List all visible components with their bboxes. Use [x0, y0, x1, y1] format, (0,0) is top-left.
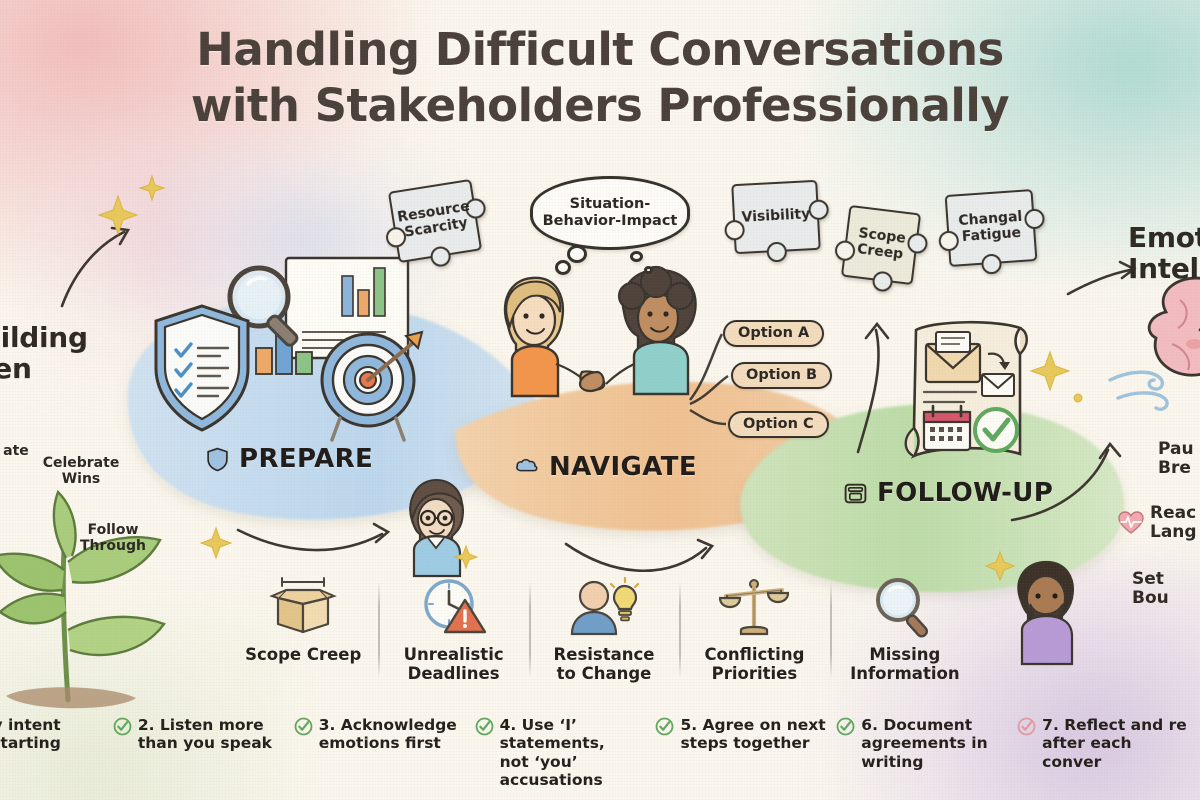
garden-title-line1: Building: [0, 321, 88, 354]
magnifier-icon: [872, 576, 938, 638]
challenge-label: Resistance to Change: [554, 645, 655, 683]
ei-item-line1: Reac: [1150, 503, 1196, 523]
option-label: Option B: [746, 367, 817, 383]
stage-label-followup: FOLLOW-UP: [843, 478, 1053, 508]
option-label: Option C: [743, 416, 814, 432]
challenge-label: Scope Creep: [245, 645, 361, 664]
ei-item-line1: Pau: [1158, 439, 1194, 459]
checklist-item-3: 3. Acknowledge emotions first: [294, 716, 475, 753]
garden-title: Building rden: [0, 322, 140, 385]
option-label: Option A: [738, 325, 809, 341]
ei-item-line1: Set Bou: [1132, 570, 1200, 609]
checklist-item-6: 6. Document agreements in writing: [836, 716, 1017, 771]
title-line-1: Handling Difficult Conversations: [0, 22, 1200, 78]
challenge-resistance-to-change: Resistance to Change: [529, 576, 679, 683]
speech-cloud-icon: [515, 455, 540, 480]
clock-warning-icon: [419, 576, 489, 638]
infographic-canvas: Handling Difficult Conversations with St…: [0, 0, 1200, 800]
challenge-unrealistic-deadlines: Unrealistic Deadlines: [378, 576, 528, 683]
checklist-text: 7. Reflect and re after each conver: [1042, 716, 1194, 771]
shield-icon: [205, 447, 230, 472]
title-line-2: with Stakeholders Professionally: [0, 78, 1200, 134]
ei-item-line2: Bre: [1158, 458, 1191, 478]
checklist-text: 5. Agree on next steps together: [680, 716, 825, 753]
thought-bubble-dot-small: [630, 251, 643, 262]
checklist-item-1: larify intent ore starting: [0, 716, 113, 753]
leaf-text: Celebrate Wins: [43, 455, 120, 487]
leaf-text: Follow Through: [80, 522, 146, 554]
option-pill-c: Option C: [728, 411, 829, 438]
archive-box-icon: [843, 481, 868, 506]
puzzle-piece-scope-creep: Scope Creep: [841, 205, 921, 285]
page-title: Handling Difficult Conversations with St…: [0, 22, 1200, 135]
checklist-text: larify intent ore starting: [0, 716, 61, 753]
challenges-strip: Scope Creep Unrealistic: [228, 576, 980, 694]
open-box-icon: [264, 576, 342, 638]
checklist-text: 3. Acknowledge emotions first: [319, 716, 457, 753]
ei-item-set-boundaries: Set Bou: [1132, 570, 1200, 609]
checklist-row: larify intent ore starting 2. Listen mor…: [0, 716, 1200, 778]
check-circle-icon: [113, 717, 132, 736]
thought-bubble-line2: Behavior-Impact: [543, 213, 678, 229]
challenge-conflicting-priorities: Conflicting Priorities: [679, 576, 829, 683]
leaf-label-celebrate-wins: Celebrate Wins: [38, 456, 124, 487]
challenge-label: Missing Information: [850, 645, 960, 683]
checklist-item-4: 4. Use ‘I’ statements, not ‘you’ accusat…: [475, 716, 656, 789]
option-pill-b: Option B: [731, 362, 832, 389]
thought-bubble-dot-tiny: [644, 266, 653, 274]
checklist-text: 2. Listen more than you speak: [138, 716, 272, 753]
check-circle-icon: [655, 717, 674, 736]
stage-label-text: NAVIGATE: [549, 452, 697, 482]
stage-label-text: PREPARE: [239, 444, 373, 474]
stage-label-navigate: NAVIGATE: [515, 452, 697, 482]
thought-bubble-line1: Situation-: [570, 196, 651, 212]
challenge-label: Conflicting Priorities: [704, 645, 804, 683]
garden-title-line2: rden: [0, 352, 32, 385]
scales-icon: [719, 576, 789, 638]
puzzle-label-visibility: Visibility: [735, 207, 816, 227]
challenge-scope-creep: Scope Creep: [228, 576, 378, 664]
checklist-text: 4. Use ‘I’ statements, not ‘you’ accusat…: [500, 716, 652, 789]
puzzle-piece-visibility: Visibility: [731, 180, 821, 254]
check-circle-pending-icon: [1017, 717, 1036, 736]
checklist-text: 6. Document agreements in writing: [861, 716, 1013, 771]
checklist-item-5: 5. Agree on next steps together: [655, 716, 836, 753]
heartbeat-icon: [1118, 511, 1144, 535]
check-circle-icon: [294, 717, 313, 736]
challenge-missing-information: Missing Information: [830, 576, 980, 683]
ei-item-line2: Lang: [1150, 522, 1197, 542]
check-circle-icon: [836, 717, 855, 736]
ei-item-pause-breathe: Pau Bre: [1158, 440, 1194, 479]
leaf-label-follow-through: Follow Through: [72, 523, 154, 554]
stage-label-text: FOLLOW-UP: [877, 478, 1053, 508]
person-lightbulb-icon: [568, 576, 640, 638]
ei-item-read-body-language: Reac Lang: [1118, 504, 1197, 543]
checklist-item-2: 2. Listen more than you speak: [113, 716, 294, 753]
puzzle-label-line2: Fatigue: [961, 225, 1021, 245]
challenge-label: Unrealistic Deadlines: [404, 645, 504, 683]
puzzle-piece-resource-scarcity: Resource Scarcity: [388, 179, 482, 263]
checklist-item-7: 7. Reflect and re after each conver: [1017, 716, 1198, 771]
option-pill-a: Option A: [723, 320, 824, 347]
check-circle-icon: [475, 717, 494, 736]
thought-bubble-situation-behavior-impact: Situation- Behavior-Impact: [530, 176, 690, 250]
ei-title-line2: Intelli: [1128, 252, 1200, 285]
ei-title-line1: Emot: [1128, 221, 1200, 254]
stage-label-prepare: PREPARE: [205, 444, 373, 474]
emotional-intelligence-title: Emot Intelli: [1128, 222, 1200, 285]
puzzle-piece-change-fatigue: Changal Fatigue: [945, 189, 1038, 267]
